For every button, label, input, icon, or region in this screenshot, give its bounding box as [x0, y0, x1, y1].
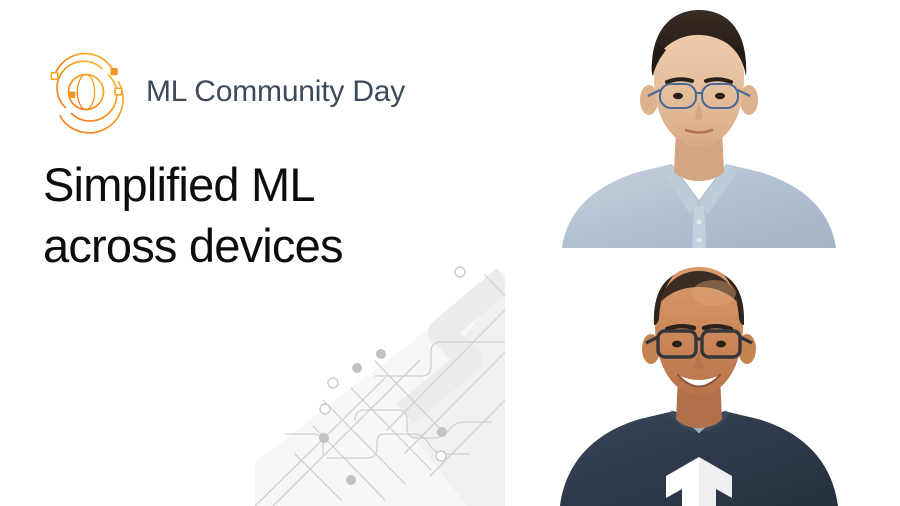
slide-canvas: ML Community Day Simplified ML across de…: [0, 0, 900, 506]
speaker-portrait-photo-bottom: [554, 253, 844, 506]
circuit-nodes-graphic: [255, 248, 505, 506]
globe-orbit-icon: [40, 46, 132, 138]
page-title-line-1: Simplified ML: [43, 154, 473, 215]
brand-title: ML Community Day: [146, 77, 405, 107]
brand-lockup: ML Community Day: [40, 46, 405, 138]
speaker-portrait-photo-top: [554, 0, 844, 248]
